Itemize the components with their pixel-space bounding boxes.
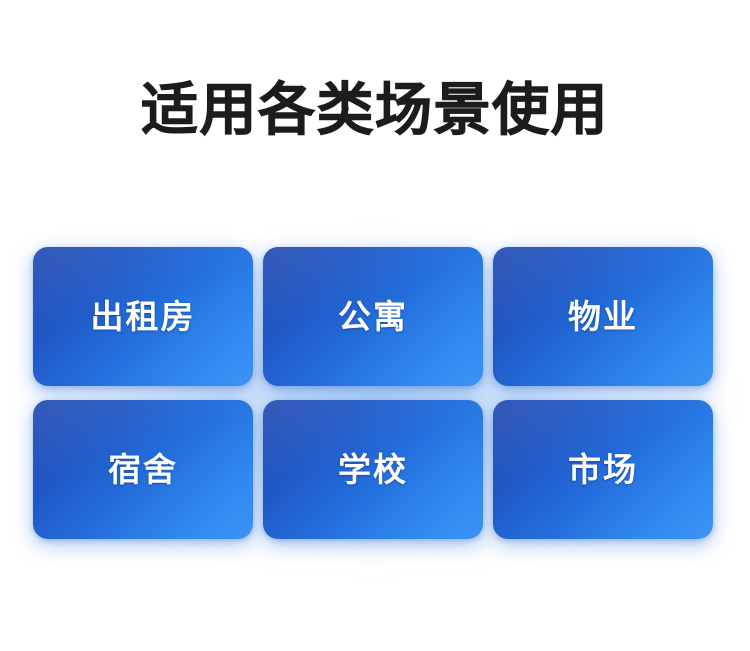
scenario-card-school[interactable]: 学校: [263, 400, 483, 539]
scenario-card-label: 学校: [338, 453, 408, 486]
page-title: 适用各类场景使用: [141, 79, 609, 142]
scenario-card-rental-housing[interactable]: 出租房: [33, 247, 253, 386]
page-heading-container: 适用各类场景使用: [0, 0, 750, 220]
scenario-card-label: 公寓: [338, 300, 408, 333]
scenario-card-label: 物业: [568, 300, 638, 333]
scenario-card-apartment[interactable]: 公寓: [263, 247, 483, 386]
scenario-card-label: 宿舍: [108, 453, 178, 486]
scenario-card-market[interactable]: 市场: [493, 400, 713, 539]
scenario-card-dormitory[interactable]: 宿舍: [33, 400, 253, 539]
scenario-card-grid: 出租房 公寓 物业 宿舍 学校 市场: [33, 247, 713, 539]
promo-page: 适用各类场景使用 出租房 公寓 物业 宿舍 学校 市场: [0, 0, 750, 651]
scenario-card-property-management[interactable]: 物业: [493, 247, 713, 386]
scenario-card-label: 出租房: [91, 300, 196, 333]
scenario-card-label: 市场: [568, 453, 638, 486]
